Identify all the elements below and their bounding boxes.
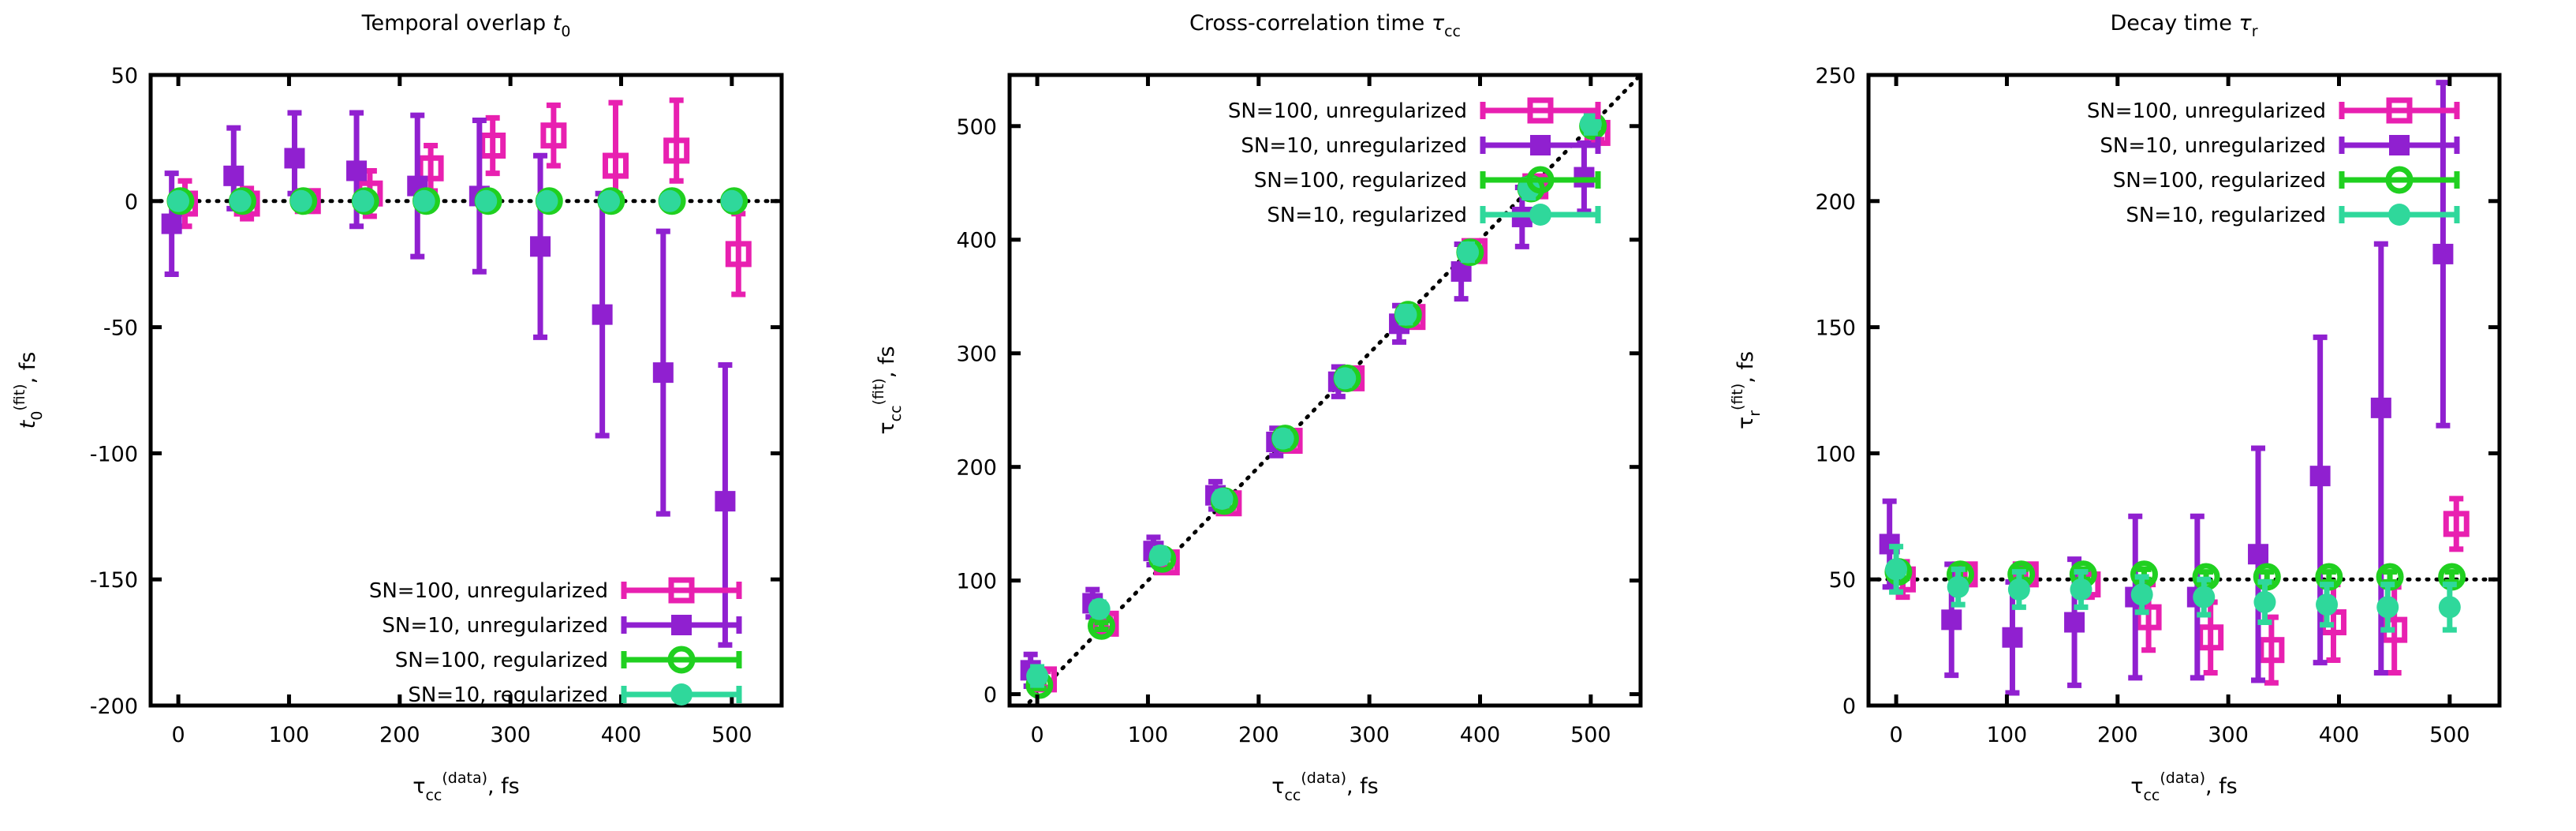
- x-tick-label: 400: [1460, 723, 1501, 747]
- legend-label: SN=100, unregularized: [2087, 99, 2326, 123]
- legend: SN=100, unregularizedSN=10, unregularize…: [369, 579, 739, 707]
- clip-right: [2500, 0, 2576, 831]
- y-tick-label: -50: [103, 316, 138, 341]
- x-tick-label: 100: [1987, 723, 2028, 747]
- data-point: [1149, 545, 1171, 567]
- axis-frame: [151, 75, 782, 706]
- data-point: [536, 190, 558, 212]
- legend-label: SN=100, regularized: [395, 649, 608, 672]
- data-point: [721, 190, 743, 212]
- data-point: [653, 231, 674, 514]
- legend-label: SN=10, regularized: [2126, 204, 2326, 227]
- legend-label: SN=100, regularized: [1254, 169, 1467, 193]
- y-tick-label: 200: [1815, 190, 1856, 215]
- legend-label: SN=100, regularized: [2113, 169, 2326, 193]
- y-tick-label: 300: [956, 343, 997, 367]
- legend-item-sn100-regularized[interactable]: SN=100, regularized: [1254, 169, 1598, 193]
- y-tick-label: 100: [956, 570, 997, 594]
- y-tick-label: -200: [90, 694, 138, 719]
- x-tick-label: 400: [601, 723, 642, 747]
- legend-label: SN=100, unregularized: [369, 579, 608, 603]
- legend: SN=100, unregularizedSN=10, unregularize…: [1228, 99, 1598, 227]
- x-tick-label: 0: [1030, 723, 1043, 747]
- clip-right: [1641, 0, 1718, 831]
- data-point: [2439, 585, 2461, 631]
- figure-root: Temporal overlap t00100200300400500-200-…: [0, 0, 2576, 831]
- data-point: [728, 214, 749, 294]
- data-point: [352, 190, 374, 212]
- data-point: [592, 193, 613, 436]
- y-tick-label: 100: [1815, 442, 1856, 466]
- y-tick-label: 50: [1829, 568, 1856, 593]
- y-tick-label: 0: [1842, 694, 1856, 719]
- data-point: [598, 190, 620, 212]
- data-point: [230, 190, 252, 212]
- data-point: [290, 190, 312, 212]
- data-point: [1026, 665, 1048, 687]
- data-point: [407, 115, 427, 256]
- x-tick-label: 500: [711, 723, 752, 747]
- legend: SN=100, unregularizedSN=10, unregularize…: [2087, 99, 2457, 227]
- x-tick-label: 200: [379, 723, 420, 747]
- x-tick-label: 100: [1128, 723, 1169, 747]
- x-tick-label: 300: [2208, 723, 2249, 747]
- legend-label: SN=10, regularized: [1267, 204, 1467, 227]
- panel-temporal-overlap: Temporal overlap t00100200300400500-200-…: [0, 0, 859, 831]
- legend-item-sn10-unregularized[interactable]: SN=10, unregularized: [2100, 134, 2457, 158]
- x-tick-label: 0: [171, 723, 185, 747]
- data-point: [2446, 499, 2466, 549]
- legend-label: SN=10, unregularized: [382, 614, 608, 638]
- y-tick-label: 150: [1815, 316, 1856, 341]
- x-tick-label: 400: [2319, 723, 2360, 747]
- data-point: [1334, 367, 1356, 389]
- data-point: [413, 190, 435, 212]
- legend-label: SN=10, unregularized: [2100, 134, 2326, 158]
- legend-item-sn100-unregularized[interactable]: SN=100, unregularized: [2087, 99, 2457, 123]
- data-point: [1394, 304, 1417, 326]
- data-point: [605, 103, 625, 193]
- x-tick-label: 300: [490, 723, 531, 747]
- y-tick-label: 200: [956, 456, 997, 481]
- data-point: [1457, 241, 1479, 264]
- x-tick-label: 500: [1570, 723, 1611, 747]
- legend-item-sn10-unregularized[interactable]: SN=10, unregularized: [1241, 134, 1598, 158]
- x-tick-label: 0: [1889, 723, 1902, 747]
- data-point: [2261, 617, 2282, 683]
- y-tick-label: -100: [90, 442, 138, 466]
- data-layer: [162, 100, 749, 645]
- y-tick-label: 0: [125, 190, 138, 215]
- legend-item-sn100-unregularized[interactable]: SN=100, unregularized: [369, 579, 739, 603]
- series-sn10-regularized: [1885, 547, 2461, 630]
- panel-cross-correlation-time: Cross-correlation time τcc01002003004005…: [859, 0, 1718, 831]
- legend-label: SN=100, unregularized: [1228, 99, 1467, 123]
- legend-item-sn10-unregularized[interactable]: SN=10, unregularized: [382, 614, 739, 638]
- data-point: [1088, 598, 1111, 620]
- legend-label: SN=10, regularized: [408, 683, 608, 707]
- y-tick-label: 0: [984, 683, 997, 708]
- y-tick-label: 50: [111, 64, 138, 88]
- data-point: [666, 100, 687, 181]
- data-point: [530, 155, 551, 337]
- data-point: [1272, 428, 1294, 450]
- data-point: [483, 118, 503, 173]
- data-layer: [1021, 113, 1608, 696]
- data-point: [167, 190, 189, 212]
- y-tick-label: 400: [956, 229, 997, 253]
- y-tick-label: -150: [90, 568, 138, 593]
- data-point: [659, 190, 681, 212]
- legend-item-sn10-regularized[interactable]: SN=10, regularized: [1267, 204, 1598, 227]
- x-tick-label: 100: [269, 723, 310, 747]
- legend-item-sn10-regularized[interactable]: SN=10, regularized: [2126, 204, 2457, 227]
- data-point: [715, 365, 735, 646]
- x-tick-label: 500: [2429, 723, 2470, 747]
- data-point: [2432, 83, 2453, 426]
- x-tick-label: 200: [2097, 723, 2138, 747]
- legend-label: SN=10, unregularized: [1241, 134, 1467, 158]
- clip-right: [782, 0, 859, 831]
- series-sn10-regularized: [1026, 113, 1602, 687]
- x-tick-label: 200: [1238, 723, 1279, 747]
- legend-item-sn100-regularized[interactable]: SN=100, regularized: [2113, 169, 2457, 193]
- legend-item-sn100-unregularized[interactable]: SN=100, unregularized: [1228, 99, 1598, 123]
- data-point: [284, 113, 304, 193]
- y-tick-label: 500: [956, 115, 997, 140]
- legend-item-sn100-regularized[interactable]: SN=100, regularized: [395, 649, 739, 672]
- data-point: [475, 190, 497, 212]
- y-tick-label: 250: [1815, 64, 1856, 88]
- x-tick-label: 300: [1349, 723, 1390, 747]
- panel-decay-time: Decay time τr010020030040050005010015020…: [1718, 0, 2576, 831]
- data-point: [1211, 488, 1233, 510]
